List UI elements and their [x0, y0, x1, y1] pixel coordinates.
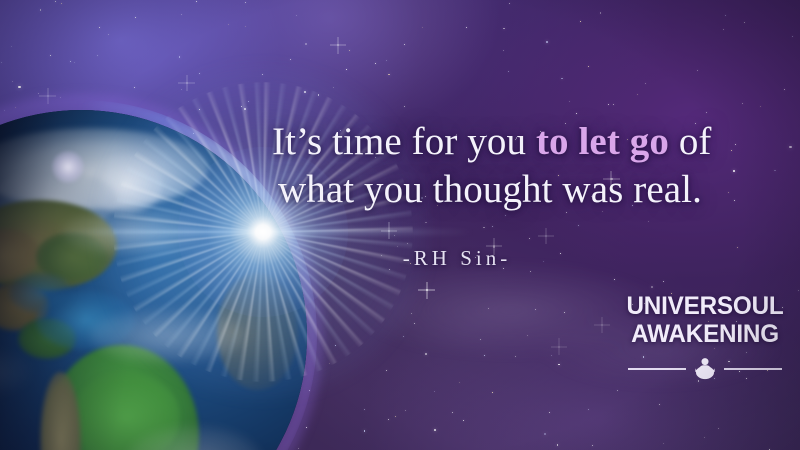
- star: [18, 86, 20, 88]
- star: [558, 346, 560, 348]
- star: [488, 308, 489, 309]
- quote-line-2: what you thought was real.: [262, 166, 782, 214]
- star: [1, 62, 2, 63]
- star: [375, 63, 376, 64]
- star: [38, 93, 39, 94]
- star: [179, 56, 181, 58]
- star: [529, 238, 530, 239]
- star: [196, 1, 197, 2]
- star: [386, 370, 387, 371]
- star: [588, 66, 589, 67]
- star: [546, 41, 548, 43]
- star: [459, 382, 460, 383]
- star: [789, 146, 791, 148]
- star: [484, 355, 485, 356]
- star: [50, 55, 51, 56]
- star: [509, 3, 510, 4]
- star: [742, 103, 743, 104]
- star: [364, 430, 366, 432]
- star: [600, 12, 602, 14]
- star: [388, 419, 389, 420]
- star: [134, 87, 135, 88]
- star: [637, 94, 638, 95]
- star: [578, 225, 579, 226]
- star: [108, 34, 109, 35]
- star: [12, 81, 13, 82]
- star: [651, 286, 653, 288]
- star: [405, 410, 406, 411]
- star: [557, 444, 559, 446]
- star: [503, 28, 505, 30]
- star: [404, 106, 405, 107]
- star: [97, 55, 98, 56]
- star: [70, 61, 71, 62]
- star: [349, 50, 350, 51]
- star: [426, 289, 428, 291]
- star: [463, 420, 464, 421]
- star: [561, 78, 563, 80]
- logo-line-universoul: UNIVERSOUL: [623, 292, 788, 320]
- star: [245, 2, 246, 3]
- quote-line-1-pre: It’s time for you: [272, 120, 536, 163]
- star: [55, 1, 56, 2]
- star: [737, 247, 738, 248]
- star: [434, 429, 436, 431]
- star: [245, 26, 246, 27]
- quote-line-1: It’s time for you to let go of: [262, 118, 782, 166]
- star: [798, 290, 799, 291]
- star: [564, 312, 565, 313]
- quote-graphic-canvas: It’s time for you to let go of what you …: [0, 0, 800, 450]
- star: [576, 113, 577, 114]
- star: [760, 106, 761, 107]
- star: [592, 445, 593, 446]
- star: [505, 215, 506, 216]
- star: [718, 428, 719, 429]
- star: [181, 14, 182, 15]
- star: [704, 437, 705, 438]
- star: [492, 392, 493, 393]
- star: [503, 50, 504, 51]
- star: [11, 46, 12, 47]
- star: [527, 335, 528, 336]
- star: [659, 404, 660, 405]
- star: [411, 313, 412, 314]
- star: [199, 73, 200, 74]
- star: [74, 62, 75, 63]
- star: [434, 391, 436, 393]
- star: [515, 356, 516, 357]
- star: [784, 89, 785, 90]
- quote-line-1-post: of: [669, 120, 712, 163]
- star: [723, 29, 724, 30]
- star: [706, 112, 707, 113]
- star: [508, 71, 509, 72]
- star: [425, 353, 427, 355]
- star: [549, 412, 550, 413]
- star: [608, 104, 609, 105]
- star: [792, 36, 793, 37]
- star: [395, 416, 396, 417]
- star: [617, 390, 618, 391]
- star: [290, 59, 291, 60]
- star: [545, 235, 547, 237]
- star: [388, 74, 390, 76]
- star: [663, 443, 664, 444]
- logo-divider-left: [628, 368, 686, 370]
- meditating-figure-icon: [692, 356, 718, 380]
- star: [697, 70, 698, 71]
- star: [305, 43, 307, 45]
- star: [645, 83, 646, 84]
- star: [614, 279, 615, 280]
- star: [337, 44, 339, 46]
- star: [588, 409, 589, 410]
- star: [403, 336, 404, 337]
- star: [648, 221, 649, 222]
- star: [422, 27, 423, 28]
- star: [296, 15, 297, 16]
- star: [452, 412, 453, 413]
- star: [725, 15, 726, 16]
- star: [386, 60, 387, 61]
- star: [364, 409, 365, 410]
- star: [544, 433, 546, 435]
- star: [61, 3, 62, 4]
- quote-highlight: to let go: [536, 120, 669, 163]
- quote-text: It’s time for you to let go of what you …: [262, 118, 782, 214]
- star: [698, 380, 700, 382]
- star: [483, 227, 485, 229]
- star: [601, 324, 603, 326]
- star: [551, 355, 552, 356]
- star: [135, 17, 136, 18]
- lens-flare-orb: [52, 151, 84, 183]
- star: [580, 21, 581, 22]
- star: [40, 9, 42, 11]
- star: [663, 281, 664, 282]
- star: [404, 44, 405, 45]
- star: [228, 24, 229, 25]
- star: [346, 69, 347, 70]
- star: [744, 22, 745, 23]
- quote-attribution: -RH Sin-: [262, 246, 652, 271]
- logo-divider-right: [724, 368, 782, 370]
- star: [99, 27, 100, 28]
- star: [613, 104, 614, 105]
- logo-line-awakening: AWAKENING: [623, 320, 788, 348]
- star: [530, 271, 531, 272]
- star: [492, 226, 493, 227]
- star: [414, 323, 415, 324]
- star: [569, 101, 570, 102]
- logo-divider: [620, 357, 790, 379]
- star: [558, 364, 560, 366]
- star: [480, 339, 481, 340]
- star: [466, 27, 467, 28]
- star: [535, 309, 536, 310]
- brand-logo[interactable]: UNIVERSOUL AWAKENING: [620, 292, 790, 379]
